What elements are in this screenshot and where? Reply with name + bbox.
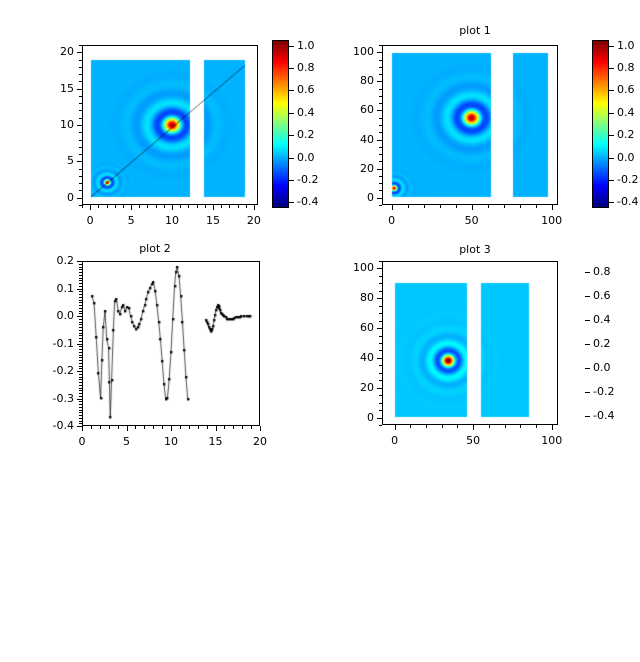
ytick-minor — [79, 355, 82, 356]
xtick-major — [216, 426, 217, 431]
ytick-minor — [79, 423, 82, 424]
ytick-label: -0.1 — [32, 337, 74, 350]
colorbar-tick — [289, 46, 294, 47]
ytick-minor — [79, 103, 82, 104]
ytick-major — [377, 388, 382, 389]
colorbar-tick-label: -0.2 — [617, 173, 638, 186]
subplot-top-left: 05101520 05101520 1.00.80.60.40.20.0-0.2… — [0, 0, 320, 240]
ytick-minor — [79, 311, 82, 312]
colorbar-tick — [289, 90, 294, 91]
ytick-minor — [79, 118, 82, 119]
ytick-major — [77, 89, 82, 90]
xtick-major — [172, 205, 173, 210]
subplot-title-bottom-left: plot 2 — [50, 242, 260, 255]
ytick-major — [377, 52, 382, 53]
colorbar-tick-label: 0.4 — [297, 106, 315, 119]
colorbar-tick-label: 0.6 — [593, 289, 611, 302]
axes-frame-bottom-left — [82, 261, 260, 426]
ytick-major — [377, 169, 382, 170]
xtick-minor — [139, 205, 140, 208]
ytick-minor — [79, 264, 82, 265]
xtick-minor — [162, 426, 163, 429]
xtick-label: 50 — [453, 434, 493, 447]
ytick-label: 100 — [332, 261, 374, 274]
xtick-minor — [164, 205, 165, 208]
ytick-minor — [379, 321, 382, 322]
ytick-minor — [79, 313, 82, 314]
ytick-minor — [79, 404, 82, 405]
ytick-minor — [379, 291, 382, 292]
ytick-minor — [79, 278, 82, 279]
colorbar-tick-label: 0.4 — [617, 106, 635, 119]
xtick-minor — [118, 426, 119, 429]
xtick-major — [552, 205, 553, 210]
xtick-label: 5 — [111, 214, 151, 227]
xtick-minor — [135, 426, 136, 429]
line-series-plot — [83, 262, 259, 425]
colorbar-tick-label: 0.6 — [617, 83, 635, 96]
colorbar-tick — [585, 368, 590, 369]
ytick-minor — [79, 190, 82, 191]
ytick-minor — [379, 154, 382, 155]
ytick-minor — [79, 407, 82, 408]
colorbar-gradient-top-left — [273, 41, 288, 207]
ytick-minor — [79, 297, 82, 298]
xtick-minor — [188, 205, 189, 208]
xtick-label: 15 — [196, 435, 236, 448]
ytick-minor — [79, 147, 82, 148]
xtick-label: 10 — [152, 214, 192, 227]
ytick-minor — [79, 154, 82, 155]
ytick-label: 0.1 — [32, 282, 74, 295]
xtick-minor — [229, 205, 230, 208]
ytick-minor — [79, 377, 82, 378]
ytick-major — [77, 371, 82, 372]
ytick-minor — [79, 379, 82, 380]
colorbar-tick — [585, 320, 590, 321]
ytick-label: 0 — [332, 411, 374, 424]
xtick-minor — [246, 205, 247, 208]
ytick-minor — [79, 349, 82, 350]
xtick-minor — [123, 205, 124, 208]
ytick-label: 100 — [332, 45, 374, 58]
colorbar-tick-label: 1.0 — [297, 39, 315, 52]
ytick-minor — [379, 205, 382, 206]
xtick-major — [260, 426, 261, 431]
ytick-label: 0.2 — [32, 254, 74, 267]
ytick-label: 60 — [332, 321, 374, 334]
ytick-minor — [79, 280, 82, 281]
ytick-minor — [379, 125, 382, 126]
ytick-minor — [79, 346, 82, 347]
xtick-minor — [457, 425, 458, 428]
xtick-label: 10 — [151, 435, 191, 448]
ytick-minor — [79, 338, 82, 339]
colorbar-tick-label: 0.8 — [593, 265, 611, 278]
colorbar-tick-label: -0.2 — [297, 173, 318, 186]
colorbar-tick-label: 1.0 — [617, 39, 635, 52]
xtick-minor — [144, 426, 145, 429]
ytick-minor — [379, 425, 382, 426]
ytick-minor — [79, 385, 82, 386]
ytick-minor — [379, 343, 382, 344]
xtick-minor — [82, 205, 83, 208]
xtick-minor — [153, 426, 154, 429]
ytick-minor — [379, 147, 382, 148]
ytick-label: -0.2 — [32, 364, 74, 377]
ytick-minor — [79, 357, 82, 358]
colorbar-gradient-top-right — [593, 41, 608, 207]
xtick-minor — [536, 425, 537, 428]
ytick-major — [377, 358, 382, 359]
axes-frame-top-left — [82, 45, 258, 205]
ytick-major — [377, 81, 382, 82]
axes-frame-bottom-right — [382, 261, 558, 425]
xtick-major — [131, 205, 132, 210]
colorbar-tick-label: 0.8 — [617, 61, 635, 74]
ytick-minor — [79, 176, 82, 177]
ytick-major — [377, 298, 382, 299]
xtick-label: 0 — [62, 435, 102, 448]
xtick-label: 100 — [532, 434, 572, 447]
ytick-minor — [79, 291, 82, 292]
ytick-minor — [79, 363, 82, 364]
xtick-minor — [205, 205, 206, 208]
ytick-minor — [79, 267, 82, 268]
colorbar-tick-label: 0.8 — [297, 61, 315, 74]
ytick-minor — [379, 313, 382, 314]
ytick-minor — [379, 395, 382, 396]
ytick-label: 60 — [332, 103, 374, 116]
ytick-minor — [379, 261, 382, 262]
ytick-minor — [79, 300, 82, 301]
colorbar-tick — [585, 392, 590, 393]
ytick-minor — [79, 341, 82, 342]
xtick-minor — [442, 425, 443, 428]
ytick-minor — [379, 96, 382, 97]
xtick-major — [254, 205, 255, 210]
xtick-minor — [198, 426, 199, 429]
xtick-minor — [424, 205, 425, 208]
colorbar-tick — [609, 90, 614, 91]
xtick-minor — [233, 426, 234, 429]
ytick-minor — [79, 140, 82, 141]
ytick-minor — [379, 283, 382, 284]
ytick-label: 0.0 — [32, 309, 74, 322]
xtick-minor — [426, 425, 427, 428]
ytick-major — [377, 418, 382, 419]
colorbar-tick — [289, 202, 294, 203]
xtick-minor — [251, 426, 252, 429]
ytick-minor — [79, 45, 82, 46]
ytick-minor — [379, 365, 382, 366]
ytick-minor — [379, 132, 382, 133]
ytick-minor — [79, 96, 82, 97]
colorbar-tick — [289, 135, 294, 136]
ytick-minor — [79, 388, 82, 389]
xtick-major — [473, 425, 474, 430]
colorbar-tick — [585, 296, 590, 297]
xtick-minor — [156, 205, 157, 208]
xtick-minor — [456, 205, 457, 208]
xtick-minor — [238, 205, 239, 208]
ytick-minor — [79, 60, 82, 61]
xtick-major — [90, 205, 91, 210]
figure-canvas: 05101520 05101520 1.00.80.60.40.20.0-0.2… — [0, 0, 640, 480]
xtick-major — [127, 426, 128, 431]
xtick-minor — [224, 426, 225, 429]
ytick-minor — [379, 190, 382, 191]
ytick-minor — [79, 169, 82, 170]
xtick-label: 15 — [193, 214, 233, 227]
ytick-minor — [79, 330, 82, 331]
ytick-minor — [79, 81, 82, 82]
ytick-minor — [379, 161, 382, 162]
xtick-major — [392, 205, 393, 210]
xtick-minor — [207, 426, 208, 429]
xtick-major — [472, 205, 473, 210]
ytick-minor — [379, 350, 382, 351]
xtick-minor — [91, 426, 92, 429]
heatmap-image-bottom-right — [383, 262, 557, 424]
ytick-label: 20 — [332, 381, 374, 394]
xtick-minor — [107, 205, 108, 208]
colorbar-tick-label: 0.2 — [593, 337, 611, 350]
xtick-minor — [115, 205, 116, 208]
ytick-minor — [79, 110, 82, 111]
xtick-minor — [180, 426, 181, 429]
ytick-minor — [379, 74, 382, 75]
xtick-minor — [109, 426, 110, 429]
xtick-label: 100 — [532, 214, 572, 227]
ytick-minor — [79, 418, 82, 419]
ytick-minor — [379, 380, 382, 381]
xtick-minor — [489, 425, 490, 428]
ytick-minor — [379, 45, 382, 46]
ytick-label: 10 — [32, 118, 74, 131]
ytick-minor — [79, 366, 82, 367]
ytick-label: 20 — [32, 45, 74, 58]
colorbar-tick-label: 0.4 — [593, 313, 611, 326]
xtick-major — [552, 425, 553, 430]
ytick-minor — [379, 276, 382, 277]
colorbar-tick-label: -0.4 — [593, 409, 614, 422]
ytick-minor — [79, 396, 82, 397]
ytick-minor — [79, 401, 82, 402]
xtick-label: 0 — [375, 434, 415, 447]
ytick-minor — [79, 333, 82, 334]
xtick-minor — [242, 426, 243, 429]
ytick-minor — [379, 306, 382, 307]
ytick-minor — [79, 322, 82, 323]
ytick-label: -0.3 — [32, 392, 74, 405]
ytick-minor — [79, 294, 82, 295]
subplot-bottom-left: plot 2 0.20.10.0-0.1-0.2-0.3-0.4 0510152… — [0, 240, 320, 480]
xtick-label: 0 — [70, 214, 110, 227]
ytick-label: 15 — [32, 82, 74, 95]
ytick-minor — [379, 403, 382, 404]
ytick-minor — [379, 103, 382, 104]
colorbar-tick — [289, 158, 294, 159]
xtick-major — [395, 425, 396, 430]
ytick-label: 20 — [332, 162, 374, 175]
ytick-minor — [79, 302, 82, 303]
colorbar-tick — [609, 180, 614, 181]
ytick-minor — [79, 335, 82, 336]
ytick-minor — [79, 275, 82, 276]
subplot-bottom-right: plot 3 020406080100 050100 0.80.60.40.20… — [320, 240, 640, 480]
ytick-minor — [79, 360, 82, 361]
colorbar-tick-label: 0.0 — [617, 151, 635, 164]
ytick-minor — [379, 118, 382, 119]
xtick-minor — [408, 205, 409, 208]
colorbar-frame-top-right — [592, 40, 609, 208]
ytick-minor — [79, 415, 82, 416]
ytick-minor — [379, 67, 382, 68]
ytick-major — [77, 198, 82, 199]
subplot-title-bottom-right: plot 3 — [370, 243, 580, 256]
colorbar-tick-label: 0.2 — [297, 128, 315, 141]
ytick-minor — [79, 324, 82, 325]
ytick-minor — [79, 421, 82, 422]
ytick-minor — [79, 305, 82, 306]
xtick-major — [82, 426, 83, 431]
ytick-major — [377, 110, 382, 111]
ytick-minor — [79, 183, 82, 184]
colorbar-tick — [609, 68, 614, 69]
ytick-minor — [379, 183, 382, 184]
xtick-minor — [180, 205, 181, 208]
colorbar-tick-label: 0.6 — [297, 83, 315, 96]
colorbar-tick — [289, 113, 294, 114]
ytick-minor — [79, 272, 82, 273]
xtick-minor — [504, 205, 505, 208]
ytick-major — [377, 328, 382, 329]
ytick-major — [77, 399, 82, 400]
xtick-minor — [147, 205, 148, 208]
subplot-title-top-right: plot 1 — [370, 24, 580, 37]
xtick-minor — [505, 425, 506, 428]
colorbar-tick — [609, 158, 614, 159]
ytick-label: 80 — [332, 291, 374, 304]
ytick-major — [377, 268, 382, 269]
ytick-label: 0 — [32, 191, 74, 204]
xtick-minor — [197, 205, 198, 208]
xtick-minor — [221, 205, 222, 208]
ytick-major — [77, 316, 82, 317]
ytick-minor — [79, 382, 82, 383]
axes-frame-top-right — [382, 45, 558, 205]
xtick-minor — [410, 425, 411, 428]
ytick-major — [77, 261, 82, 262]
colorbar-tick-label: -0.4 — [297, 195, 318, 208]
xtick-label: 50 — [452, 214, 492, 227]
ytick-minor — [79, 283, 82, 284]
colorbar-tick — [585, 344, 590, 345]
colorbar-tick — [609, 202, 614, 203]
colorbar-tick — [609, 46, 614, 47]
xtick-minor — [98, 205, 99, 208]
ytick-major — [377, 140, 382, 141]
xtick-minor — [536, 205, 537, 208]
ytick-minor — [79, 286, 82, 287]
ytick-label: 40 — [332, 351, 374, 364]
colorbar-tick-label: 0.0 — [297, 151, 315, 164]
ytick-major — [77, 161, 82, 162]
ytick-label: 40 — [332, 133, 374, 146]
xtick-minor — [440, 205, 441, 208]
ytick-minor — [379, 89, 382, 90]
ytick-minor — [379, 373, 382, 374]
ytick-minor — [79, 74, 82, 75]
ytick-minor — [79, 390, 82, 391]
ytick-minor — [379, 176, 382, 177]
xtick-label: 20 — [240, 435, 280, 448]
ytick-minor — [79, 352, 82, 353]
ytick-minor — [79, 410, 82, 411]
ytick-label: 0 — [332, 191, 374, 204]
xtick-minor — [488, 205, 489, 208]
xtick-minor — [189, 426, 190, 429]
ytick-minor — [79, 67, 82, 68]
xtick-minor — [520, 205, 521, 208]
colorbar-tick — [585, 272, 590, 273]
ytick-minor — [79, 327, 82, 328]
ytick-major — [77, 289, 82, 290]
xtick-minor — [100, 426, 101, 429]
ytick-major — [77, 344, 82, 345]
ytick-major — [377, 198, 382, 199]
colorbar-tick-label: -0.4 — [617, 195, 638, 208]
ytick-minor — [79, 412, 82, 413]
colorbar-tick-label: 0.2 — [617, 128, 635, 141]
ytick-minor — [79, 308, 82, 309]
colorbar-tick — [609, 113, 614, 114]
xtick-major — [171, 426, 172, 431]
colorbar-tick-label: 0.0 — [593, 361, 611, 374]
xtick-label: 5 — [107, 435, 147, 448]
colorbar-tick — [609, 135, 614, 136]
ytick-minor — [79, 269, 82, 270]
ytick-major — [77, 52, 82, 53]
colorbar-tick — [289, 68, 294, 69]
ytick-label: 5 — [32, 154, 74, 167]
subplot-top-right: plot 1 020406080100 050100 1.00.80.60.40… — [320, 0, 640, 240]
heatmap-image-top-left — [83, 46, 257, 204]
ytick-minor — [379, 60, 382, 61]
ytick-minor — [379, 410, 382, 411]
xtick-minor — [520, 425, 521, 428]
ytick-label: -0.4 — [32, 419, 74, 432]
colorbar-tick-label: -0.2 — [593, 385, 614, 398]
colorbar-tick — [289, 180, 294, 181]
xtick-major — [213, 205, 214, 210]
colorbar-frame-top-left — [272, 40, 289, 208]
ytick-minor — [79, 374, 82, 375]
ytick-major — [77, 125, 82, 126]
colorbar-tick — [585, 416, 590, 417]
xtick-label: 0 — [372, 214, 412, 227]
ytick-minor — [79, 319, 82, 320]
ytick-minor — [379, 336, 382, 337]
heatmap-image-top-right — [383, 46, 557, 204]
ytick-minor — [79, 393, 82, 394]
ytick-minor — [79, 368, 82, 369]
xtick-label: 20 — [234, 214, 274, 227]
ytick-label: 80 — [332, 74, 374, 87]
ytick-minor — [79, 132, 82, 133]
